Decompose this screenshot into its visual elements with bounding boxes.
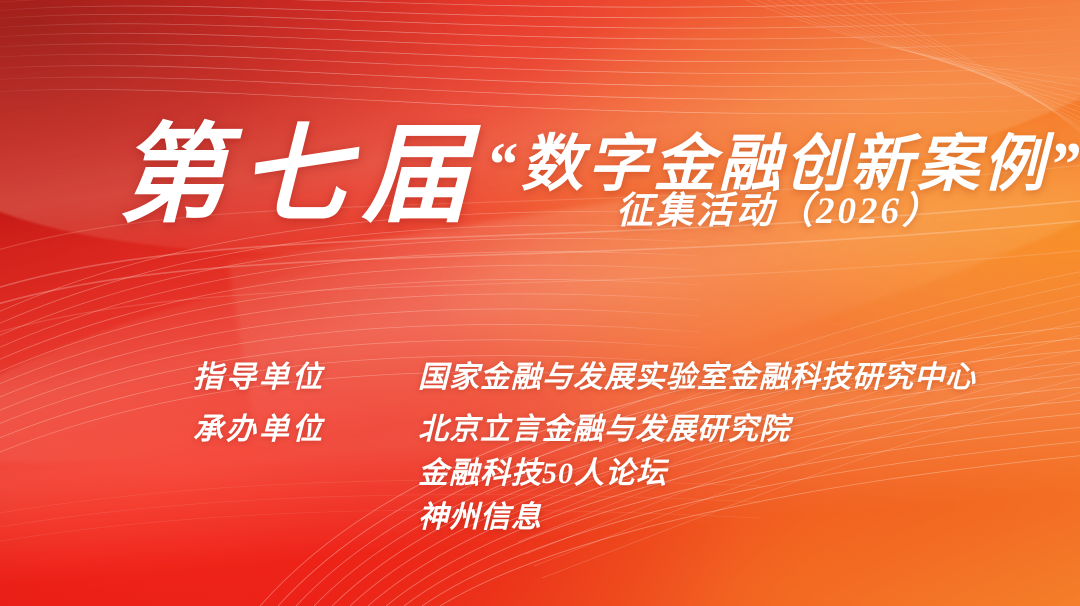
credit-values-guidance: 国家金融与发展实验室金融科技研究中心	[418, 356, 1033, 400]
credit-values-organizer: 北京立言金融与发展研究院 金融科技50人论坛 神州信息	[418, 408, 1033, 540]
credit-value: 国家金融与发展实验室金融科技研究中心	[418, 356, 1033, 400]
poster-canvas: 第七届 “数字金融创新案例” 征集活动（2026） 指导单位 国家金融与发展实验…	[0, 0, 1080, 606]
credit-label-guidance: 指导单位	[193, 356, 418, 400]
credit-row: 承办单位 北京立言金融与发展研究院 金融科技50人论坛 神州信息	[193, 408, 1033, 540]
page-title-main: 第七届	[118, 112, 484, 242]
credit-row: 指导单位 国家金融与发展实验室金融科技研究中心	[193, 356, 1033, 400]
credit-value: 神州信息	[418, 496, 1033, 540]
credit-value: 金融科技50人论坛	[418, 452, 1033, 496]
page-subtitle: 征集活动（2026）	[616, 188, 942, 236]
credit-value: 北京立言金融与发展研究院	[418, 408, 1033, 452]
credits-block: 指导单位 国家金融与发展实验室金融科技研究中心 承办单位 北京立言金融与发展研究…	[193, 356, 1033, 548]
poster-content: 第七届 “数字金融创新案例” 征集活动（2026） 指导单位 国家金融与发展实验…	[0, 0, 1080, 606]
credit-label-organizer: 承办单位	[193, 408, 418, 452]
